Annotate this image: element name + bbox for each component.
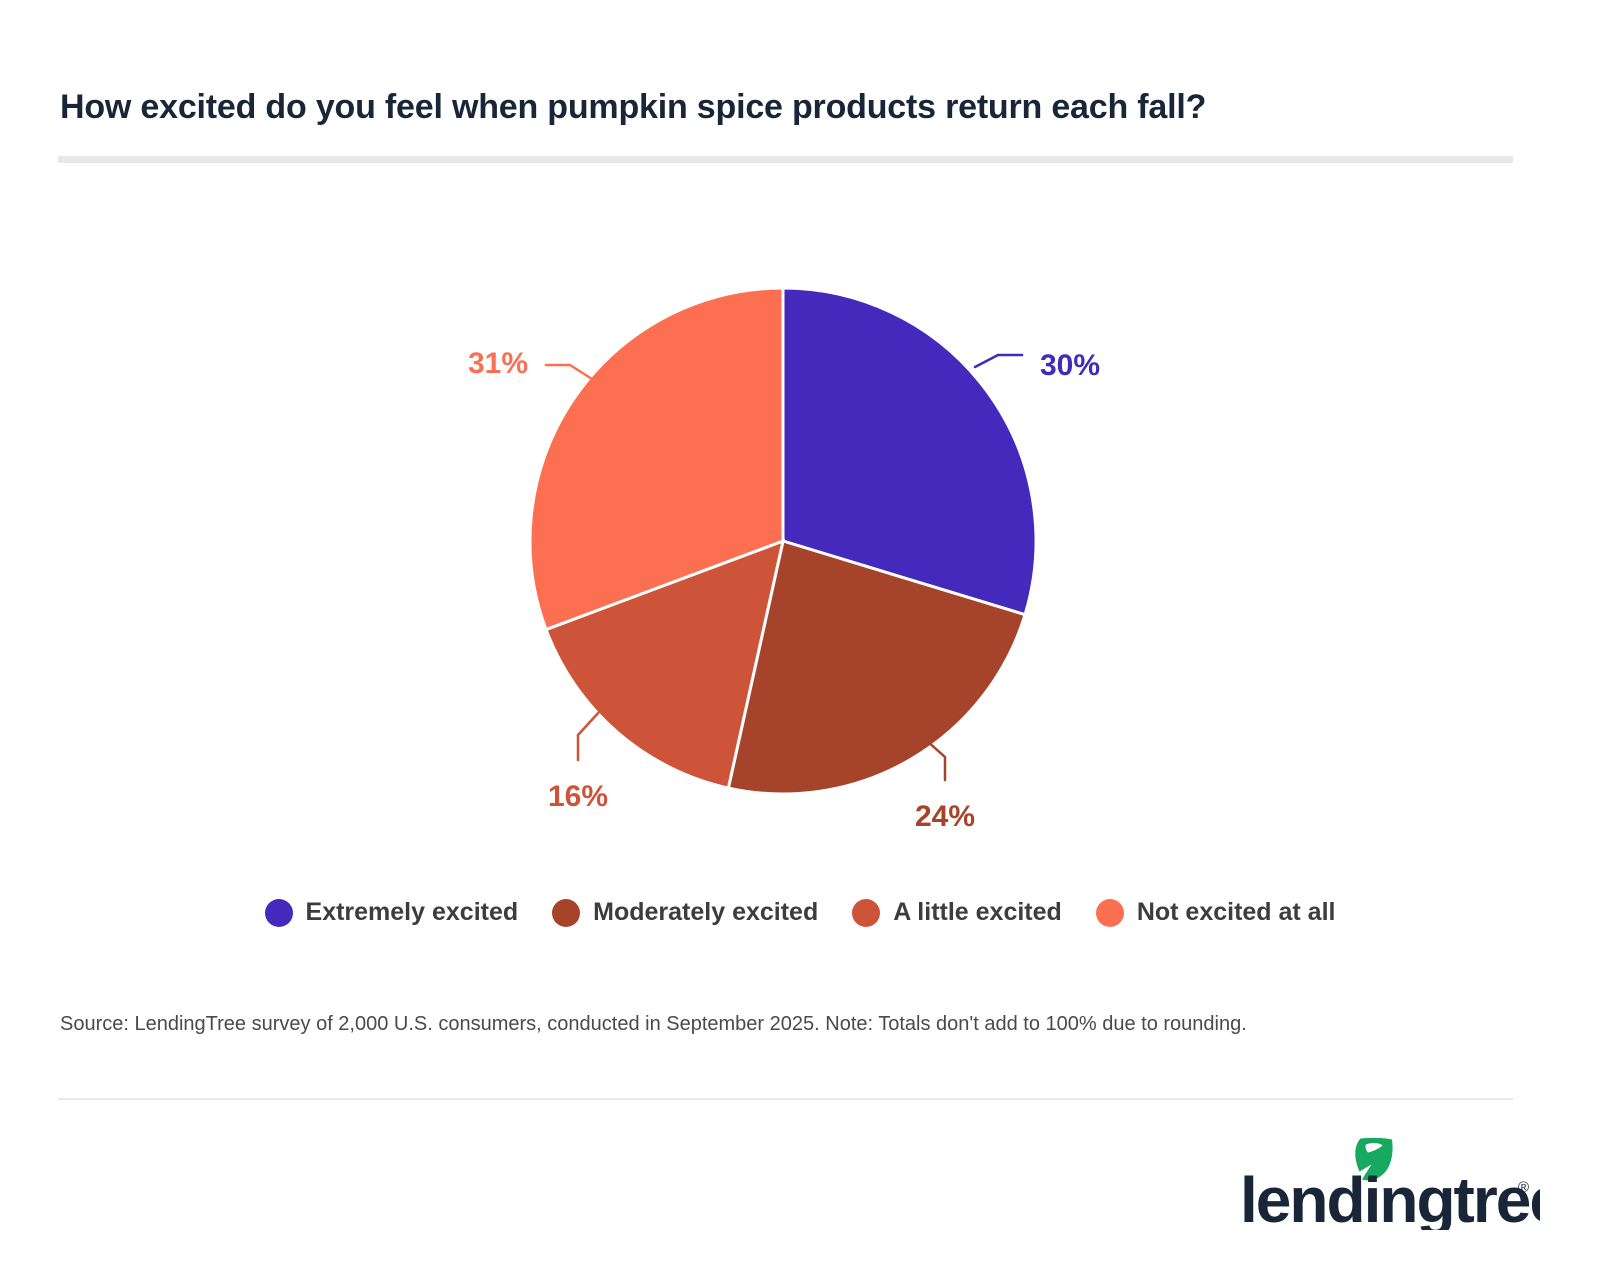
leader-line-31 bbox=[546, 365, 592, 379]
legend-color-swatch-icon bbox=[265, 899, 293, 927]
pie-label-24: 24% bbox=[915, 800, 975, 833]
chart-page: How excited do you feel when pumpkin spi… bbox=[0, 0, 1600, 1268]
legend-item-extremely-excited[interactable]: Extremely excited bbox=[265, 898, 519, 927]
title-divider bbox=[58, 156, 1513, 163]
legend-item-label: A little excited bbox=[893, 898, 1062, 927]
source-note: Source: LendingTree survey of 2,000 U.S.… bbox=[60, 1010, 1520, 1038]
pie-chart: 30% 24% 16% 31% bbox=[0, 255, 1600, 855]
leader-line-16 bbox=[578, 711, 600, 760]
legend-item-label: Moderately excited bbox=[593, 898, 818, 927]
footer-divider bbox=[58, 1098, 1513, 1100]
legend-color-swatch-icon bbox=[1096, 899, 1124, 927]
lendingtree-logo: lendingtree ® bbox=[1240, 1130, 1540, 1230]
pie-label-30: 30% bbox=[1040, 349, 1100, 382]
chart-legend: Extremely excited Moderately excited A l… bbox=[0, 898, 1600, 927]
pie-label-31: 31% bbox=[468, 347, 528, 380]
legend-item-label: Extremely excited bbox=[306, 898, 519, 927]
legend-color-swatch-icon bbox=[552, 899, 580, 927]
page-title: How excited do you feel when pumpkin spi… bbox=[60, 88, 1520, 127]
pie-slices bbox=[530, 288, 1036, 794]
legend-item-not-excited-at-all[interactable]: Not excited at all bbox=[1096, 898, 1336, 927]
lendingtree-logo-svg: lendingtree ® bbox=[1240, 1130, 1540, 1230]
legend-item-moderately-excited[interactable]: Moderately excited bbox=[552, 898, 818, 927]
legend-color-swatch-icon bbox=[852, 899, 880, 927]
logo-wordmark: lendingtree bbox=[1240, 1164, 1540, 1230]
pie-chart-svg: 30% 24% 16% 31% bbox=[0, 255, 1600, 855]
leader-line-30 bbox=[975, 355, 1022, 367]
logo-registered-mark: ® bbox=[1518, 1179, 1529, 1196]
legend-item-a-little-excited[interactable]: A little excited bbox=[852, 898, 1062, 927]
legend-item-label: Not excited at all bbox=[1137, 898, 1336, 927]
pie-label-16: 16% bbox=[548, 780, 608, 813]
